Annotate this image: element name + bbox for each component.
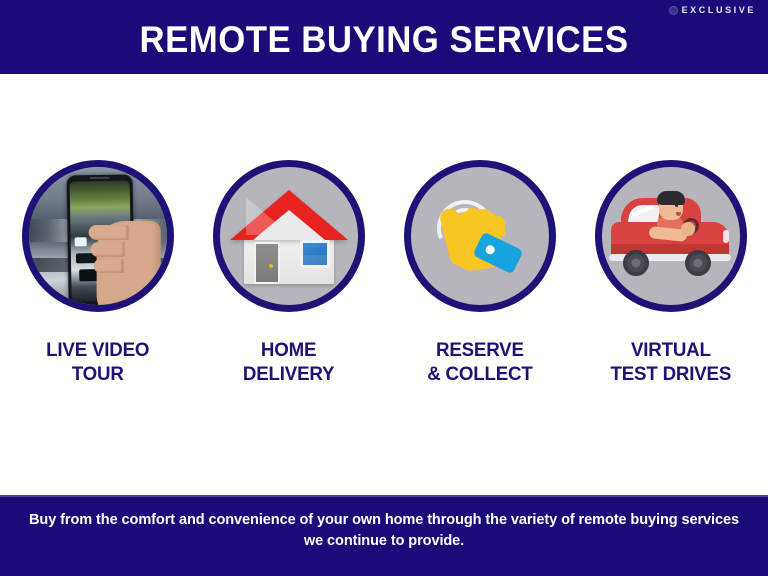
finger-icon xyxy=(88,225,128,240)
car-wheel-front xyxy=(685,250,711,276)
icon-circle-live-video-tour xyxy=(22,160,174,312)
house-gable xyxy=(253,210,325,240)
icon-circle-virtual-test-drives xyxy=(595,160,747,312)
brand-name: EXCLUSIVE xyxy=(682,6,756,15)
driver-mouth xyxy=(676,212,681,216)
service-card-home-delivery[interactable]: HOME DELIVERY xyxy=(201,160,376,386)
headlight-left xyxy=(74,238,86,247)
slide-root: EXCLUSIVE REMOTE BUYING SERVICES xyxy=(0,0,768,576)
service-label-live-video-tour: LIVE VIDEO TOUR xyxy=(46,338,149,386)
house-icon xyxy=(230,184,348,288)
service-card-virtual-test-drives[interactable]: VIRTUAL TEST DRIVES xyxy=(583,160,758,386)
service-label-reserve-and-collect: RESERVE & COLLECT xyxy=(427,338,532,386)
wrist-shape xyxy=(114,297,166,312)
page-title: REMOTE BUYING SERVICES xyxy=(23,19,745,61)
phone-speaker-icon xyxy=(89,177,109,179)
driver-eye xyxy=(675,204,678,207)
house-door xyxy=(254,242,280,284)
door-knob-icon xyxy=(269,264,273,268)
footer-bar: Buy from the comfort and convenience of … xyxy=(0,495,768,576)
cuff-button-icon xyxy=(484,244,496,256)
hand-icon xyxy=(88,219,166,312)
icon-circle-home-delivery xyxy=(213,160,365,312)
house-window xyxy=(300,240,330,268)
brand-mark-icon xyxy=(669,6,678,15)
service-card-reserve-and-collect[interactable]: RESERVE & COLLECT xyxy=(392,160,567,386)
car-with-driver-icon xyxy=(607,188,735,284)
driver-hand xyxy=(681,222,695,236)
service-card-live-video-tour[interactable]: LIVE VIDEO TOUR xyxy=(10,160,185,386)
finger-icon xyxy=(90,242,124,257)
service-card-list: LIVE VIDEO TOUR HOME DELIVERY xyxy=(0,160,768,386)
service-label-home-delivery: HOME DELIVERY xyxy=(243,338,334,386)
knuckle-shape xyxy=(490,216,505,236)
finger-icon xyxy=(93,259,123,273)
tapping-hand-icon xyxy=(421,184,539,288)
car-wheel-rear xyxy=(623,250,649,276)
brand-lockup: EXCLUSIVE xyxy=(669,6,756,15)
header-bar: EXCLUSIVE REMOTE BUYING SERVICES xyxy=(0,0,768,74)
car-headlamp xyxy=(723,230,729,243)
footer-message: Buy from the comfort and convenience of … xyxy=(12,509,757,551)
service-label-virtual-test-drives: VIRTUAL TEST DRIVES xyxy=(610,338,731,386)
driver-hair xyxy=(657,191,685,205)
icon-circle-reserve-and-collect xyxy=(404,160,556,312)
